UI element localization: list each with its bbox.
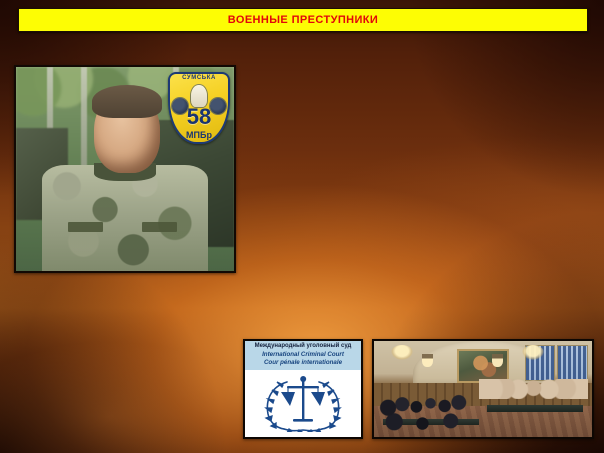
emblem-58-number: 58 xyxy=(168,106,230,128)
photo-soldier-58-brigade: СУМСЬКА 58 МПБр xyxy=(14,65,236,273)
photo-international-court-hall xyxy=(372,339,594,439)
emblem-58-arc-label: СУМСЬКА xyxy=(168,75,230,81)
icc-logo-header: Международный уголовный суд Internationa… xyxy=(245,341,361,370)
emblem-58-subtitle: МПБр xyxy=(168,130,230,140)
icc-name-russian: Международный уголовный суд xyxy=(247,343,359,351)
emblem-58-brigade-icon: СУМСЬКА 58 МПБр xyxy=(168,72,230,144)
slide-root: ВОЕННЫЕ ПРЕСТУПНИКИ СУМСЬКА 58 МПБр xyxy=(0,0,604,453)
icc-scales-wreath-icon xyxy=(245,370,361,432)
icc-name-french: Cour pénale internationale xyxy=(247,359,359,367)
icc-name-english: International Criminal Court xyxy=(247,351,359,359)
page-title: ВОЕННЫЕ ПРЕСТУПНИКИ xyxy=(228,14,378,26)
icc-logo-card: Международный уголовный суд Internationa… xyxy=(243,339,363,439)
title-banner: ВОЕННЫЕ ПРЕСТУПНИКИ xyxy=(18,8,588,32)
